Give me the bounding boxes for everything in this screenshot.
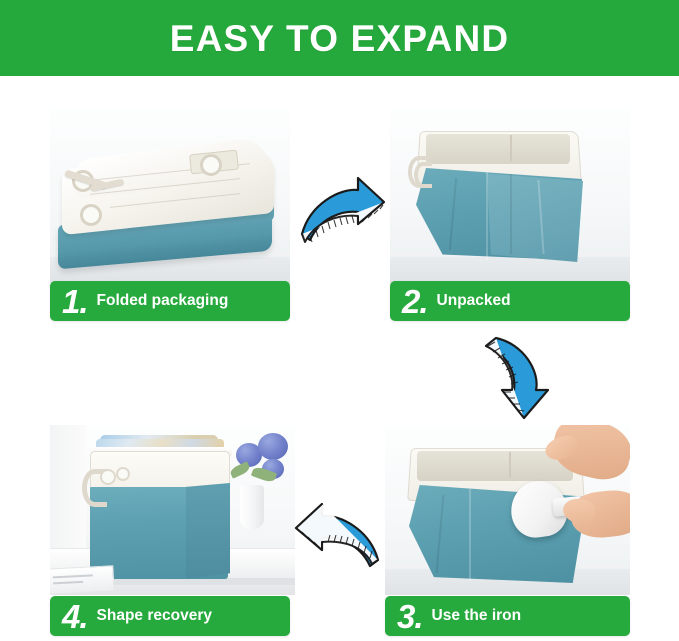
- flower-bloom: [258, 433, 288, 460]
- fabric-crease: [486, 172, 488, 260]
- step-label-text-1: Folded packaging: [97, 293, 229, 309]
- panel-use-the-iron: [385, 425, 630, 595]
- paper-on-shelf: [50, 565, 115, 595]
- paper-line: [53, 581, 83, 585]
- panel-shape-recovery: [50, 425, 295, 595]
- step-number-3: 3.: [397, 600, 423, 633]
- basket-divider: [510, 135, 512, 161]
- handle-ring: [100, 469, 116, 485]
- basket-front-face: [487, 170, 583, 262]
- header-banner: EASY TO EXPAND: [0, 0, 679, 76]
- basket-divider: [509, 452, 511, 478]
- handle-ring: [116, 467, 130, 481]
- step-label-3: 3. Use the iron: [385, 596, 630, 636]
- step-number-2: 2.: [402, 285, 428, 318]
- fabric-crease: [510, 174, 512, 254]
- page-title: EASY TO EXPAND: [170, 20, 510, 57]
- panel-unpacked: [390, 108, 630, 283]
- fabric-crease: [469, 489, 471, 581]
- step-label-text-3: Use the iron: [432, 608, 522, 624]
- infographic-page: EASY TO EXPAND: [0, 0, 679, 641]
- step-number-1: 1.: [62, 285, 88, 318]
- arrow-step3-to-step4: [292, 498, 384, 576]
- panel-folded-packaging: [50, 108, 290, 283]
- step-number-4: 4.: [62, 600, 88, 633]
- arrow-step2-to-step3: [478, 332, 556, 424]
- step-label-text-4: Shape recovery: [97, 608, 212, 624]
- handle-ring: [200, 154, 222, 176]
- basket-side-face: [186, 483, 230, 579]
- paper-line: [53, 574, 93, 578]
- step-label-text-2: Unpacked: [437, 293, 511, 309]
- step-label-1: 1. Folded packaging: [50, 281, 290, 321]
- vase: [240, 485, 264, 529]
- rope-handle: [414, 162, 432, 188]
- basket-interior: [426, 134, 570, 164]
- table-surface: [390, 257, 630, 283]
- arrow-step1-to-step2: [296, 172, 388, 250]
- step-label-4: 4. Shape recovery: [50, 596, 290, 636]
- handle-ring: [80, 204, 102, 226]
- step-label-2: 2. Unpacked: [390, 281, 630, 321]
